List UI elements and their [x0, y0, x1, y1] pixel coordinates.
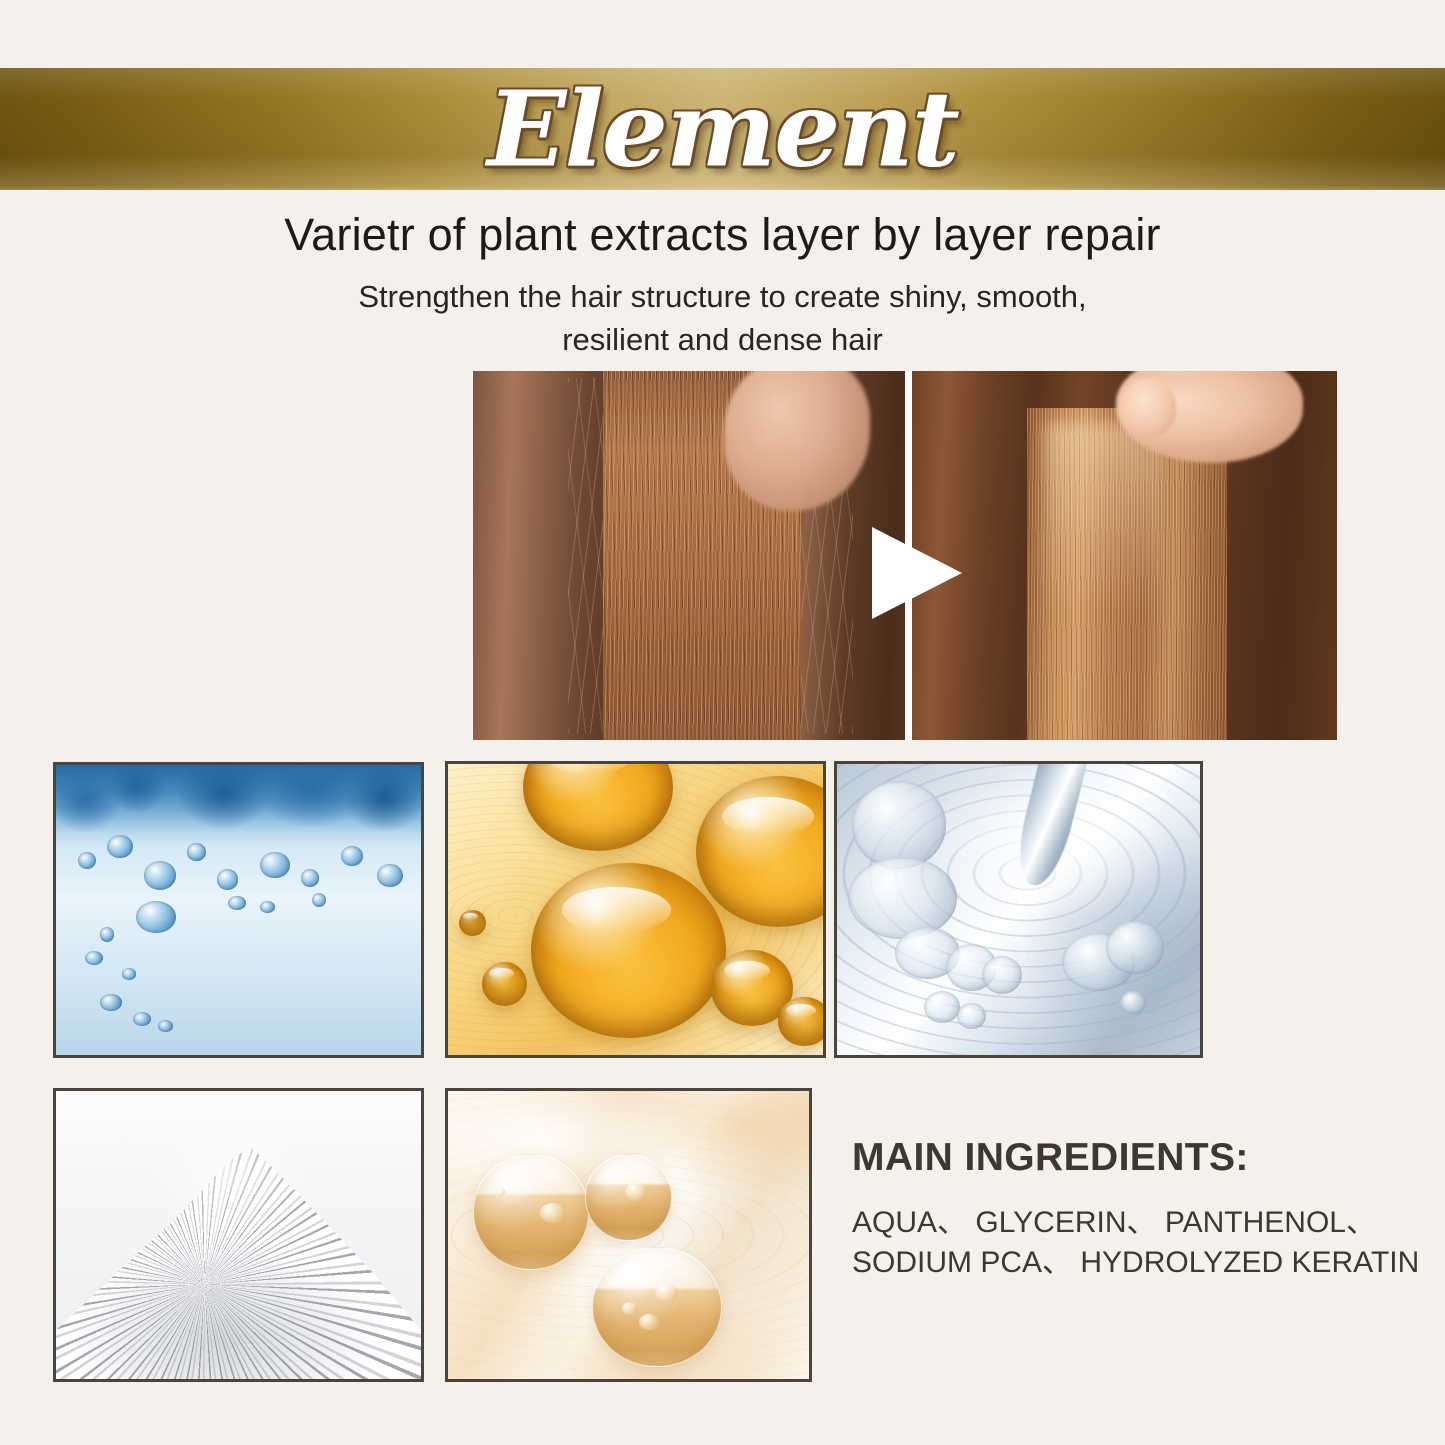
bubble: [187, 843, 205, 860]
water-surface-froth: [56, 765, 421, 846]
oil-texture: [448, 764, 823, 1055]
ingredients-list: AQUA、 GLYCERIN、 PANTHENOL、 SODIUM PCA、 H…: [852, 1203, 1412, 1282]
inner-bubble: [655, 1283, 678, 1302]
gel-bubble: [848, 857, 957, 938]
bubble: [136, 901, 176, 933]
inner-bubble: [495, 1187, 505, 1196]
powder-shading: [56, 1091, 421, 1379]
gold-sphere: [473, 1154, 589, 1269]
bubble: [312, 893, 327, 908]
inner-bubble: [540, 1203, 565, 1223]
bubble: [78, 852, 96, 869]
inner-bubble: [639, 1314, 658, 1329]
hair-after-photo: [912, 371, 1337, 740]
bubble: [100, 994, 122, 1011]
bubble: [144, 861, 177, 890]
oil-droplet: [459, 910, 485, 936]
gel-bubble: [1120, 991, 1145, 1014]
thumb-detail: [1120, 378, 1175, 437]
oil-droplet: [482, 962, 527, 1006]
gold-sphere: [585, 1154, 672, 1240]
oil-droplet: [531, 863, 726, 1038]
bubble: [107, 835, 133, 858]
bubble: [341, 846, 363, 866]
hair-gloss-highlight: [1044, 423, 1163, 615]
gel-bubble: [1106, 921, 1164, 973]
ingredients-line-1: AQUA、 GLYCERIN、 PANTHENOL、: [852, 1203, 1412, 1243]
clear-blue-gel-photo: [834, 761, 1203, 1058]
water-bubbles-photo: [53, 762, 424, 1058]
pearl-texture: [448, 1091, 809, 1379]
oil-droplet: [778, 997, 826, 1046]
pearlescent-gold-spheres-photo: [445, 1088, 812, 1382]
subtitle-line-2: resilient and dense hair: [0, 319, 1445, 362]
bubble: [122, 968, 137, 980]
inner-bubble: [622, 1302, 637, 1315]
gel-texture: [837, 764, 1200, 1055]
bubble: [228, 896, 246, 911]
bubble: [260, 852, 289, 878]
bubble: [133, 1012, 151, 1027]
page-title: Varietr of plant extracts layer by layer…: [0, 209, 1445, 261]
bubble: [100, 927, 115, 942]
bubble: [158, 1020, 173, 1032]
gel-bubble: [982, 956, 1022, 994]
powder-texture: [56, 1091, 421, 1379]
play-triangle-icon: [872, 527, 962, 619]
gel-bubble: [957, 1003, 986, 1029]
brand-banner: Element: [0, 68, 1445, 190]
ingredients-heading: MAIN INGREDIENTS:: [852, 1136, 1249, 1180]
bubble: [217, 869, 239, 889]
golden-oil-droplets-photo: [445, 761, 826, 1058]
gold-sphere: [592, 1247, 722, 1368]
bubble: [301, 869, 319, 886]
hair-before-photo: [473, 371, 905, 740]
water-texture: [56, 765, 421, 1055]
bubble: [377, 864, 403, 887]
gel-bubble: [852, 781, 946, 868]
bubble: [260, 901, 275, 913]
white-powder-mound-photo: [53, 1088, 424, 1382]
brand-wordmark: Element: [0, 68, 1445, 190]
page-subtitle: Strengthen the hair structure to create …: [0, 276, 1445, 362]
inner-bubble: [625, 1182, 647, 1201]
subtitle-line-1: Strengthen the hair structure to create …: [0, 276, 1445, 319]
ingredients-line-2: SODIUM PCA、 HYDROLYZED KERATIN: [852, 1243, 1412, 1283]
bubble: [85, 951, 103, 966]
